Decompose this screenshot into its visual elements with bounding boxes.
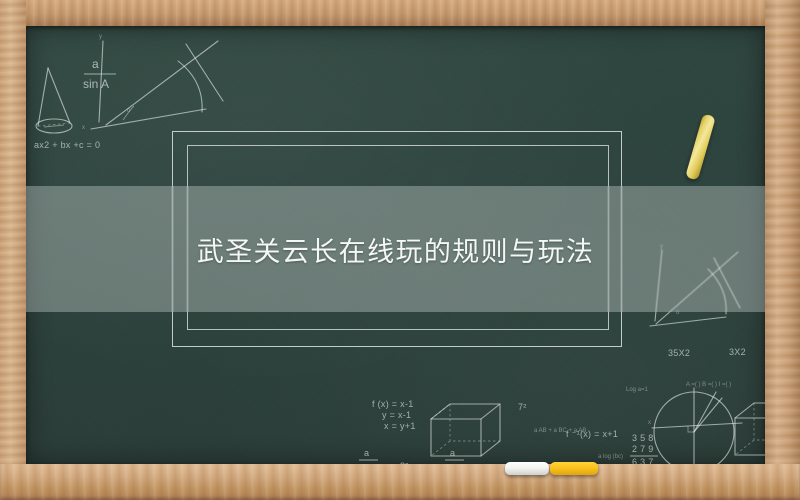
svg-text:f ⁻¹(x) = x+1: f ⁻¹(x) = x+1 <box>566 429 618 439</box>
frame-right-rail <box>765 0 800 500</box>
svg-text:2 7 9: 2 7 9 <box>632 444 654 454</box>
log-bc-note: a log (bc) <box>598 454 623 460</box>
function-equations: f (x) = x-1 y = x-1 x = y+1 <box>372 399 416 431</box>
svg-text:a: a <box>364 448 369 458</box>
page-title: 武圣关云长在线玩的规则与玩法 <box>26 186 765 312</box>
fraction-a-over-sinA-bl: a sin A <box>356 448 378 464</box>
white-chalk-piece-icon <box>505 462 549 475</box>
chalkboard-poster: a sin A ax2 + bx +c = 0 y x o <box>0 0 800 500</box>
frame-left-rail <box>0 0 26 500</box>
frame-top-rail <box>0 0 800 26</box>
yellow-chalk-piece-icon <box>550 462 598 475</box>
svg-text:sin A: sin A <box>83 77 109 91</box>
svg-text:y: y <box>99 34 102 40</box>
svg-text:a: a <box>92 57 99 71</box>
fraction-a-over-sinA-top: a sin A <box>83 57 116 91</box>
quadratic-equation: ax2 + bx +c = 0 <box>34 140 100 150</box>
svg-text:sin A: sin A <box>356 463 377 464</box>
svg-text:o: o <box>127 108 131 114</box>
label-35x2: 35X2 <box>668 348 690 358</box>
cube-left <box>431 404 500 456</box>
cone-drawing <box>36 68 72 133</box>
matrix-note: A =( ) B =( ) I =( ) <box>686 382 731 388</box>
axis-x-right: x <box>648 420 651 426</box>
circle-radii-diagram <box>652 388 742 464</box>
svg-text:f (x) = x-1: f (x) = x-1 <box>372 399 414 409</box>
cube-right <box>735 403 765 455</box>
chalk-ledge <box>0 464 800 500</box>
inverse-function: f ⁻¹(x) = x+1 <box>566 429 618 439</box>
svg-text:sin A: sin A <box>442 463 463 464</box>
svg-text:a: a <box>450 448 455 458</box>
svg-text:x: x <box>82 125 85 131</box>
svg-text:3 5 8: 3 5 8 <box>632 433 654 443</box>
svg-text:6 3 7: 6 3 7 <box>632 457 654 464</box>
digit-stack: 3 5 8 2 7 9 6 3 7 <box>630 433 658 464</box>
svg-text:y = x-1: y = x-1 <box>382 410 411 420</box>
exponent-7-squared: 7² <box>518 402 527 412</box>
log-a-note: Log a=1 <box>626 387 649 393</box>
exponent-8-squared: 8² <box>400 461 409 464</box>
label-3x2: 3X2 <box>729 347 746 357</box>
svg-text:x = y+1: x = y+1 <box>384 421 416 431</box>
